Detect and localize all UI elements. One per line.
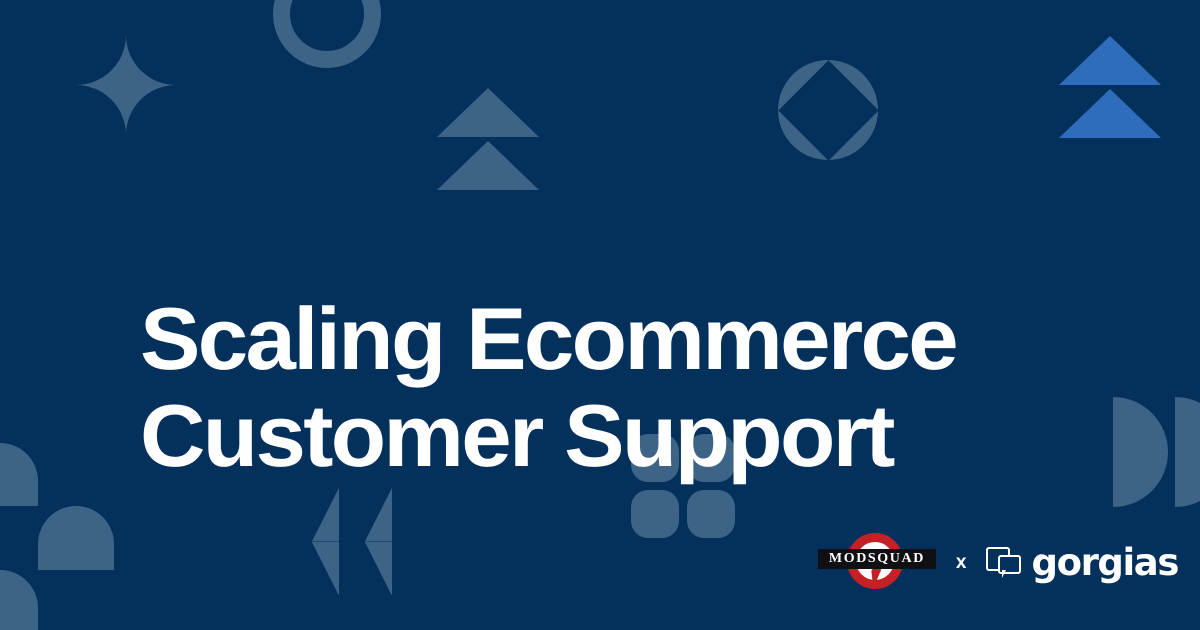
star-knockout-corner [76, 35, 126, 85]
page-title: Scaling Ecommerce Customer Support [140, 290, 1088, 484]
half-circles-icon [1113, 397, 1200, 507]
arch-icon [0, 443, 38, 506]
triangle-icon [1059, 36, 1161, 85]
diamond-knockout [778, 60, 878, 160]
arch-icon [38, 570, 114, 630]
half-circle-icon [1175, 397, 1200, 507]
gorgias-logo: gorgias [986, 544, 1178, 581]
star-knockout-corner [126, 85, 176, 135]
page-title-line-1: Scaling Ecommerce [140, 290, 1088, 387]
modsquad-wordmark-bar: MODSQUAD [818, 549, 936, 569]
modsquad-wordmark: MODSQUAD [829, 552, 925, 566]
gorgias-bubble-icon [998, 555, 1021, 574]
triangle-icon [437, 88, 539, 137]
social-card-canvas: Scaling Ecommerce Customer Support MODSQ… [0, 0, 1200, 630]
arch-grid-icon [0, 443, 114, 630]
double-chevron-icon [312, 523, 417, 630]
modsquad-logo: MODSQUAD [818, 534, 936, 590]
square-with-star-knockout-icon [76, 35, 176, 135]
arch-icon [38, 506, 114, 569]
logo-lockup: MODSQUAD x gorgias [818, 534, 1178, 590]
circle-with-diamond-knockout-icon [778, 60, 878, 160]
page-title-line-2: Customer Support [140, 387, 1088, 484]
squircle-icon [687, 490, 735, 538]
arch-icon [0, 506, 38, 569]
triangle-icon [437, 141, 539, 190]
ring-icon [273, 0, 381, 68]
half-circle-icon [1113, 397, 1168, 507]
arch-icon [0, 570, 38, 630]
arch-icon [38, 443, 114, 506]
star-knockout-corner [76, 85, 126, 135]
gorgias-chat-mark-icon [986, 547, 1020, 578]
lockup-separator: x [956, 553, 967, 572]
star-knockout-corner [126, 35, 176, 85]
squircle-icon [631, 490, 679, 538]
gorgias-wordmark: gorgias [1031, 544, 1178, 581]
triangle-icon [1059, 89, 1161, 138]
